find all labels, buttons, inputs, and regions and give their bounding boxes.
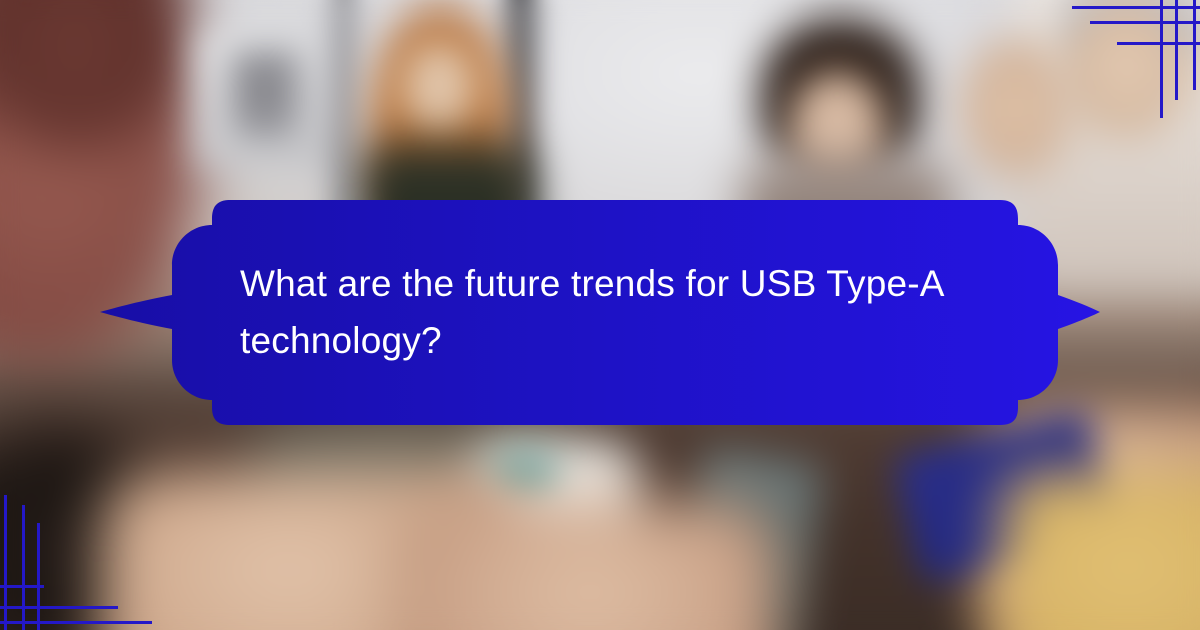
question-text-block: What are the future trends for USB Type-… <box>240 195 970 430</box>
question-card-stage: What are the future trends for USB Type-… <box>0 0 1200 630</box>
bg-blob-raised-hand <box>960 38 1070 178</box>
bg-blob-wall-art <box>230 50 300 140</box>
bg-blob-foreground-hand-right <box>400 500 780 630</box>
question-speech-bubble: What are the future trends for USB Type-… <box>100 195 1100 430</box>
bg-blob-right-person-face <box>1062 0 1190 140</box>
question-line-2: technology? <box>240 313 970 369</box>
bg-blob-redhead-face <box>400 40 478 136</box>
question-line-1: What are the future trends for USB Type-… <box>240 256 970 312</box>
bg-blob-yellow-cushion <box>1000 470 1200 630</box>
